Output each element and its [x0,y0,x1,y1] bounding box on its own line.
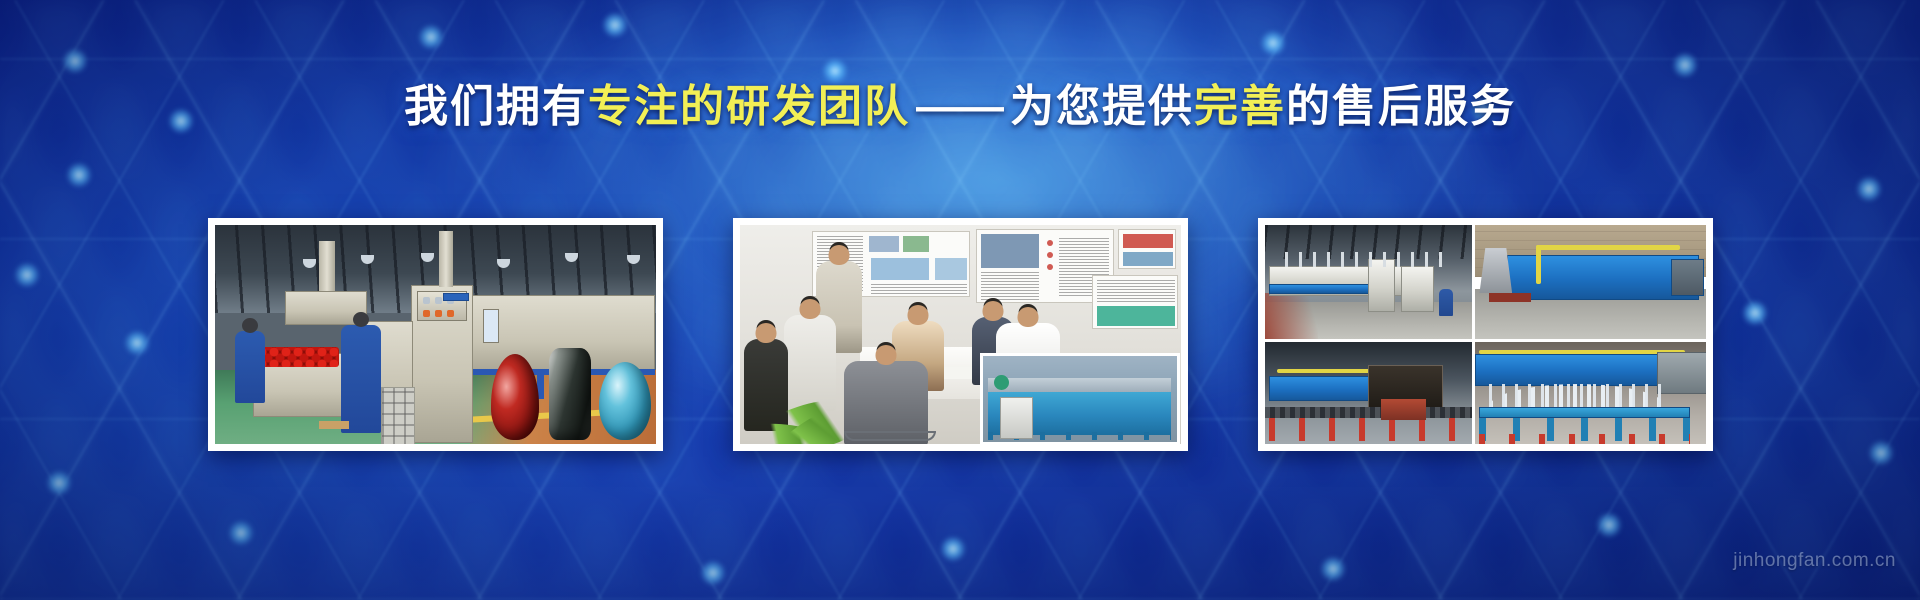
document-on-table [940,367,972,379]
headline-segment-4: 为您提供 [1010,82,1194,131]
site-watermark: jinhongfan.com.cn [1733,550,1896,572]
collage-cell-production-hall [1265,225,1472,339]
worker-figure [235,331,265,403]
collage-cell-conveyor [1265,342,1472,444]
photo-gallery [0,218,1920,451]
network-node-icon [602,12,628,38]
wall-poster [1092,275,1178,329]
network-node-icon [62,48,88,74]
photo-frame-equipment-collage[interactable] [1258,218,1713,451]
poster-image-block [869,236,899,252]
network-node-icon [228,520,254,546]
collage-grid [1265,225,1706,444]
headline-segment-2: 专注的研发团队 [588,82,910,131]
wooden-stool [319,421,349,429]
yellow-gas-pipe-drop [1536,245,1541,284]
white-cabinet [1401,266,1434,312]
headline-segment-5: 完善 [1194,82,1286,131]
network-node-icon [1260,30,1286,56]
indicator-light-icon [435,297,442,304]
indicator-light-icon [447,310,454,317]
blue-oven-wall [1475,354,1671,386]
glass-vase-dark [549,348,591,440]
overhead-hanger-rack [1285,252,1447,267]
exhaust-duct [439,231,453,287]
rack-hook-icon [1489,384,1667,407]
network-node-icon [1856,176,1882,202]
network-node-icon [1596,512,1622,538]
person-seated [784,315,836,411]
poster-image-block [1123,234,1173,248]
network-node-icon [700,560,726,586]
plastic-crate [381,387,415,444]
poster-diagram [935,258,967,280]
poster-seal-mark [1047,240,1053,246]
promo-banner: 我们拥有专注的研发团队——为您提供完善的售后服务 [0,0,1920,600]
inset-green-wheel-icon [994,375,1009,390]
poster-image-block [981,234,1039,268]
banner-headline: 我们拥有专注的研发团队——为您提供完善的售后服务 [0,82,1920,133]
poster-image-block [1123,252,1173,266]
photo-equipment-collage [1265,225,1706,444]
network-node-icon [1672,52,1698,78]
furnace-door-label [483,309,499,343]
cabinet-blue-label [443,293,469,301]
indicator-light-icon [423,310,430,317]
indicator-light-icon [435,310,442,317]
poster-text-block [871,284,967,294]
network-node-icon [66,162,92,188]
photo-frame-factory-line[interactable] [208,218,663,451]
network-node-icon [940,536,966,562]
wall-poster [1118,229,1176,269]
red-parts-on-conveyor [257,347,339,367]
conveyor-track [1265,407,1472,418]
poster-seal-mark [1047,264,1053,270]
network-node-icon [418,24,444,50]
yellow-gas-pipe [1536,245,1681,250]
network-node-icon [46,470,72,496]
photo-team-meeting [740,225,1181,444]
poster-diagram [871,258,929,280]
collage-cell-tunnel-oven [1475,225,1706,339]
worker-figure [1439,289,1454,316]
collage-cell-hanging-line [1475,342,1706,444]
oven-red-base [1489,293,1531,302]
poster-text-block [1097,280,1175,302]
network-node-icon [822,58,848,84]
poster-image-block [1097,306,1175,326]
poster-seal-mark [1047,252,1053,258]
glass-vase-blue [599,362,651,440]
photo-frame-team-meeting[interactable] [733,218,1188,451]
headline-segment-6: 的售后服务 [1286,82,1516,131]
poster-image-block [903,236,929,252]
rack-red-base [1479,434,1689,444]
headline-segment-1: 我们拥有 [404,82,588,131]
poster-text-block [981,272,1039,300]
oven-end-unit [1671,259,1704,295]
glass-vase-red [491,354,539,440]
indicator-light-icon [423,297,430,304]
photo-factory-line [215,225,656,444]
worker-figure [341,325,381,433]
overhead-yellow-pipe [1479,350,1685,354]
conveyor-machinery [1381,399,1427,420]
headline-segment-dash: —— [910,82,1010,131]
inset-control-cabinet [1000,397,1033,438]
rack-conveyor-frame [1479,407,1689,418]
hall-floor-red-zone [1265,293,1319,339]
network-node-icon [1320,556,1346,582]
equipment-inset-photo [980,353,1180,444]
conveyor-red-supports [1269,415,1468,440]
